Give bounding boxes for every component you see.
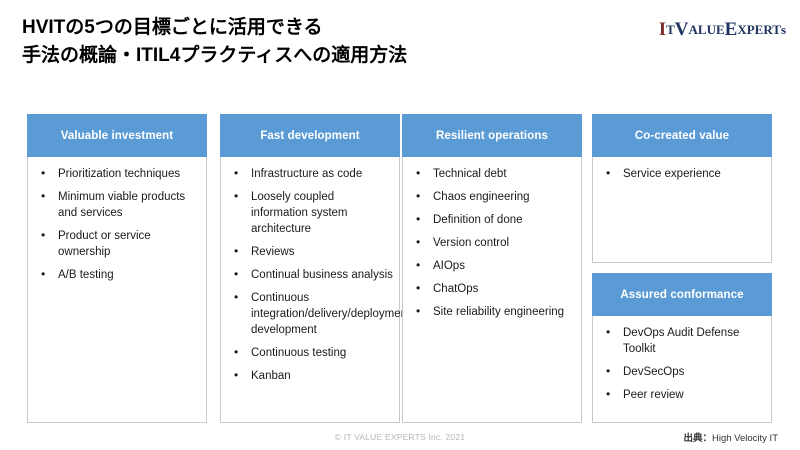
card-header-valuable-investment: Valuable investment <box>27 114 207 157</box>
page-title-line-1: HVITの5つの目標ごとに活用できる <box>22 14 642 42</box>
list-item: Peer review <box>601 387 765 403</box>
card-header-assured-conformance: Assured conformance <box>592 273 772 316</box>
list-item: Technical debt <box>411 166 575 182</box>
list-item: Product or service ownership <box>36 228 200 260</box>
list-item: Service experience <box>601 166 765 182</box>
card-body-fast-development: Infrastructure as code Loosely coupled i… <box>220 157 400 423</box>
list-item: Chaos engineering <box>411 189 575 205</box>
list-fast-development: Infrastructure as code Loosely coupled i… <box>229 166 393 384</box>
logo-letter-v: V <box>675 20 689 39</box>
list-item: Minimum viable products and services <box>36 189 200 221</box>
list-co-created-value: Service experience <box>601 166 765 182</box>
card-valuable-investment: Valuable investment Prioritization techn… <box>27 114 207 423</box>
card-resilient-operations: Resilient operations Technical debt Chao… <box>402 114 582 423</box>
list-item: Kanban <box>229 368 393 384</box>
list-item: Loosely coupled information system archi… <box>229 189 393 237</box>
card-body-assured-conformance: DevOps Audit Defense Toolkit DevSecOps P… <box>592 316 772 423</box>
card-header-resilient-operations: Resilient operations <box>402 114 582 157</box>
list-item: Prioritization techniques <box>36 166 200 182</box>
logo-word-xpert: XPERT <box>737 23 781 36</box>
brand-logo: ITVALUEEXPERTs <box>659 16 786 42</box>
list-item: ChatOps <box>411 281 575 297</box>
list-resilient-operations: Technical debt Chaos engineering Definit… <box>411 166 575 320</box>
card-body-valuable-investment: Prioritization techniques Minimum viable… <box>27 157 207 423</box>
list-item: Continuous testing <box>229 345 393 361</box>
list-valuable-investment: Prioritization techniques Minimum viable… <box>36 166 200 283</box>
list-item: Version control <box>411 235 575 251</box>
card-co-created-value: Co-created value Service experience <box>592 114 772 263</box>
logo-letter-t: T <box>666 23 675 36</box>
card-header-co-created-value: Co-created value <box>592 114 772 157</box>
logo-letter-e: E <box>725 20 738 39</box>
logo-letter-i: I <box>659 20 666 39</box>
card-assured-conformance: Assured conformance DevOps Audit Defense… <box>592 273 772 423</box>
card-body-resilient-operations: Technical debt Chaos engineering Definit… <box>402 157 582 423</box>
list-item: AIOps <box>411 258 575 274</box>
logo-word-alue: ALUE <box>689 23 725 36</box>
source-value: High Velocity IT <box>712 433 778 444</box>
list-item: Definition of done <box>411 212 575 228</box>
list-item: DevSecOps <box>601 364 765 380</box>
list-item: Site reliability engineering <box>411 304 575 320</box>
list-item: Continuous integration/delivery/deployme… <box>229 290 393 338</box>
card-body-co-created-value: Service experience <box>592 157 772 263</box>
page-title-line-2: 手法の概論・ITIL4プラクティスへの適用方法 <box>22 42 642 70</box>
list-item: Infrastructure as code <box>229 166 393 182</box>
list-item: Continual business analysis <box>229 267 393 283</box>
list-item: A/B testing <box>36 267 200 283</box>
logo-letter-s: s <box>781 23 786 36</box>
list-item: DevOps Audit Defense Toolkit <box>601 325 765 357</box>
page-title: HVITの5つの目標ごとに活用できる 手法の概論・ITIL4プラクティスへの適用… <box>22 14 642 70</box>
copyright-notice: © IT VALUE EXPERTS Inc. 2021 <box>0 432 800 442</box>
source-note: 出典：High Velocity IT <box>683 430 778 444</box>
source-label: 出典： <box>683 433 712 444</box>
card-header-fast-development: Fast development <box>220 114 400 157</box>
list-assured-conformance: DevOps Audit Defense Toolkit DevSecOps P… <box>601 325 765 403</box>
card-fast-development: Fast development Infrastructure as code … <box>220 114 400 423</box>
list-item: Reviews <box>229 244 393 260</box>
